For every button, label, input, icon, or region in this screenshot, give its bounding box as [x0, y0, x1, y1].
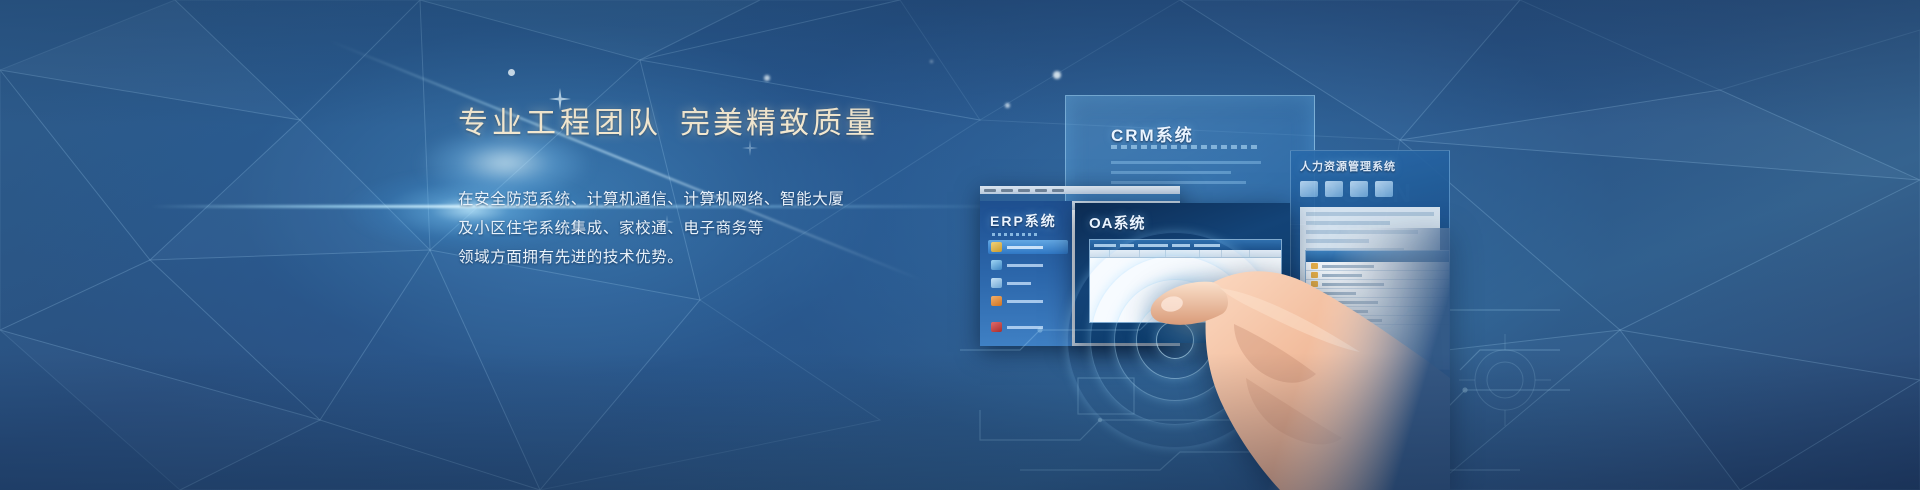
paragraph-line-1: 在安全防范系统、计算机通信、计算机网络、智能大厦: [458, 185, 928, 214]
crm-window-title: CRM系统: [1111, 121, 1194, 146]
list-item[interactable]: [1306, 307, 1449, 316]
list-item[interactable]: [1306, 298, 1449, 307]
headline-part-2: 完美精致质量: [680, 107, 878, 140]
sparkle-dot: [1005, 103, 1010, 108]
folder-icon: [1311, 299, 1318, 305]
oa-toolbar[interactable]: [1090, 240, 1281, 250]
list-window-body: [1305, 250, 1450, 370]
erp-menu-item[interactable]: [988, 294, 1068, 308]
table-column-divider: [1140, 250, 1166, 257]
oa-table-header: [1090, 250, 1281, 258]
list-view-window[interactable]: [1305, 250, 1450, 370]
hr-content-line: [1306, 239, 1369, 243]
erp-menu-label: [1007, 282, 1031, 285]
wrench-icon: [991, 322, 1002, 332]
hr-content-line: [1306, 221, 1390, 225]
folder-icon: [1311, 263, 1318, 269]
hr-content-line: [1306, 212, 1434, 216]
oa-data-panel: [1089, 239, 1282, 323]
table-column-divider: [1090, 250, 1110, 257]
report-icon: [991, 296, 1002, 306]
toolbar-button[interactable]: [1194, 244, 1220, 247]
erp-title-bar: [980, 186, 1180, 194]
list-item[interactable]: [1306, 316, 1449, 325]
oa-system-window[interactable]: OA系统: [1075, 203, 1290, 343]
erp-menu-item[interactable]: [988, 320, 1068, 334]
sparkle-dot: [930, 60, 933, 63]
table-column-divider: [1222, 250, 1250, 257]
crm-subtitle-bar: [1111, 145, 1261, 149]
table-column-divider: [1110, 250, 1140, 257]
folder-icon: [1311, 290, 1318, 296]
oa-window-body: OA系统: [1075, 203, 1290, 343]
menu-strip: [1035, 189, 1047, 192]
list-item[interactable]: [1306, 262, 1449, 271]
toolbar-button[interactable]: [1138, 244, 1168, 247]
menu-strip: [1052, 189, 1064, 192]
folder-icon: [1311, 281, 1318, 287]
menu-strip: [1018, 189, 1030, 192]
erp-subtitle-bar: [992, 233, 1040, 236]
toolbar-button[interactable]: [1172, 244, 1190, 247]
paragraph-line-3: 领域方面拥有先进的技术优势。: [458, 243, 928, 272]
hr-app-icon[interactable]: [1350, 181, 1368, 197]
erp-menu-item[interactable]: [988, 276, 1068, 290]
paragraph-line-2: 及小区住宅系统集成、家校通、电子商务等: [458, 214, 928, 243]
erp-menu-item[interactable]: [988, 258, 1068, 272]
list-item[interactable]: [1306, 280, 1449, 289]
menu-strip: [1001, 189, 1013, 192]
table-column-divider: [1200, 250, 1222, 257]
hr-app-icon[interactable]: [1325, 181, 1343, 197]
hr-icon-grid: [1300, 181, 1440, 197]
crm-content-row: [1111, 161, 1261, 164]
erp-menu-label: [1007, 300, 1043, 303]
list-window-header: [1306, 251, 1449, 262]
hr-app-icon[interactable]: [1375, 181, 1393, 197]
toolbar-button[interactable]: [1120, 244, 1134, 247]
folder-icon: [1311, 317, 1318, 323]
hero-text-block: 专业工程团队完美精致质量 在安全防范系统、计算机通信、计算机网络、智能大厦 及小…: [458, 98, 928, 272]
erp-window-title: ERP系统: [990, 211, 1068, 231]
hr-app-icon[interactable]: [1300, 181, 1318, 197]
folder-icon: [1311, 308, 1318, 314]
toolbar-button[interactable]: [1094, 244, 1116, 247]
erp-sidebar: ERP系统: [980, 201, 1072, 346]
hero-headline: 专业工程团队完美精致质量: [458, 98, 928, 142]
erp-menu-label: [1007, 326, 1043, 329]
sparkle-dot: [764, 75, 770, 81]
document-icon: [991, 242, 1002, 252]
headline-part-1: 专业工程团队: [458, 107, 662, 140]
polygon-background-decoration: [0, 0, 1920, 490]
menu-strip: [984, 189, 996, 192]
list-item[interactable]: [1306, 289, 1449, 298]
crm-content-row: [1111, 181, 1246, 184]
erp-menu-item[interactable]: [988, 240, 1068, 254]
crm-content-row: [1111, 171, 1231, 174]
table-column-divider: [1166, 250, 1200, 257]
settings-icon: [991, 260, 1002, 270]
hr-window-title: 人力资源管理系统: [1300, 158, 1396, 174]
hero-paragraph: 在安全防范系统、计算机通信、计算机网络、智能大厦 及小区住宅系统集成、家校通、电…: [458, 185, 928, 272]
sparkle-dot: [1053, 71, 1061, 79]
hero-banner: 专业工程团队完美精致质量 在安全防范系统、计算机通信、计算机网络、智能大厦 及小…: [0, 0, 1920, 490]
hr-content-line: [1306, 230, 1418, 234]
erp-menu-label: [1007, 246, 1043, 249]
list-icon: [991, 278, 1002, 288]
folder-icon: [1311, 272, 1318, 278]
oa-window-title: OA系统: [1089, 212, 1146, 233]
sparkle-dot: [508, 69, 515, 76]
erp-menu-label: [1007, 264, 1043, 267]
list-item[interactable]: [1306, 271, 1449, 280]
